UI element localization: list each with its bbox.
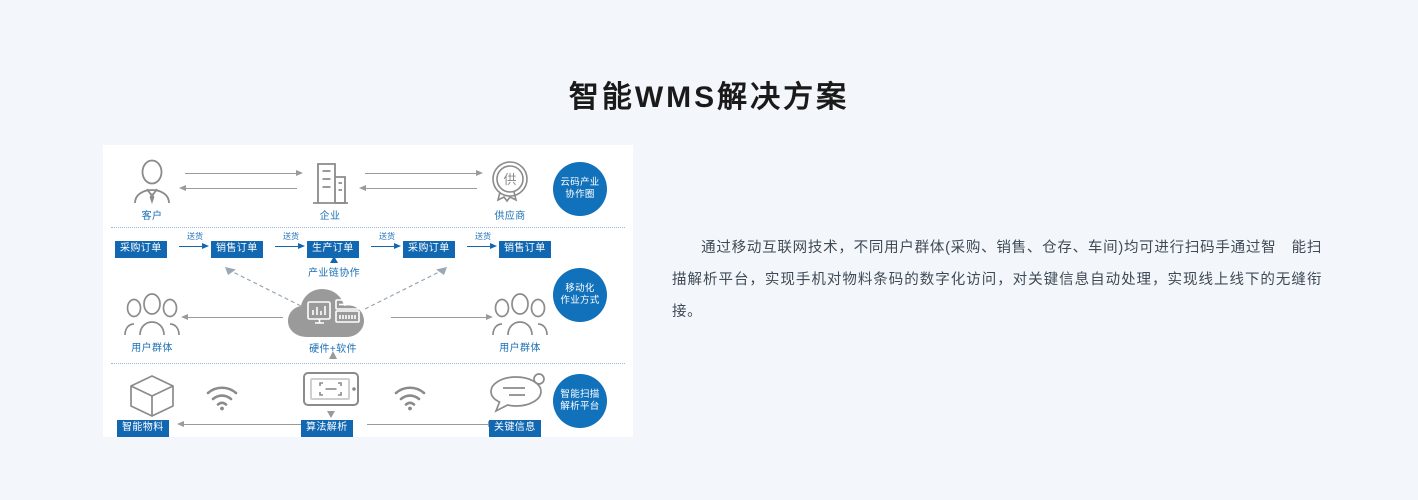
node-smart-material	[123, 373, 181, 417]
node-key-information	[485, 371, 547, 415]
arrow-cloud-to-user-left	[187, 317, 283, 318]
tag-label: 关键信息	[489, 420, 541, 437]
node-enterprise: 企业	[301, 159, 359, 222]
node-label-user-group-right: 用户群体	[491, 339, 549, 354]
badge-cloud-industry-circle: 云码产业 协作圈	[553, 162, 607, 216]
svg-text:供: 供	[503, 172, 516, 187]
badge-mobile-operation-circle: 移动化 作业方式	[553, 268, 607, 322]
tag-sales-order-1[interactable]: 销售订单	[211, 238, 263, 258]
arrow-delivery-3	[371, 246, 395, 247]
row-separator-1	[111, 227, 625, 228]
wms-architecture-diagram: 客户 企业	[103, 145, 633, 437]
node-cloud-platform: 硬件+软件	[281, 285, 385, 355]
wifi-icon	[393, 385, 427, 411]
description-paragraph: 通过移动互联网技术，不同用户群体(采购、销售、仓存、车间)均可进行扫码手通过智 …	[672, 232, 1322, 328]
arrow-scanner-to-material	[183, 424, 305, 425]
package-box-icon	[123, 373, 181, 417]
arrow-label-delivery-3: 送货	[373, 231, 401, 242]
speech-bubble-icon	[485, 371, 547, 415]
node-label-supplier: 供应商	[481, 207, 539, 222]
tag-sales-order-2[interactable]: 销售订单	[499, 238, 551, 258]
arrow-delivery-2	[275, 246, 299, 247]
badge-line-2: 协作圈	[565, 189, 594, 201]
wifi-icon	[205, 385, 239, 411]
tag-label: 采购订单	[403, 241, 455, 258]
enterprise-building-icon	[301, 159, 359, 205]
arrow-label-delivery-4: 送货	[469, 231, 497, 242]
tag-key-information[interactable]: 关键信息	[489, 417, 541, 437]
node-user-group-right: 用户群体	[491, 293, 549, 354]
arrow-cloud-to-user-right	[391, 317, 487, 318]
tag-algorithm-parse[interactable]: 算法解析	[301, 417, 353, 437]
badge-line-2: 作业方式	[560, 295, 599, 307]
arrow-enterprise-to-customer	[185, 188, 297, 189]
wifi-icon-left-wrap	[205, 385, 239, 411]
node-label-customer: 客户	[123, 207, 181, 222]
node-label-user-group-left: 用户群体	[123, 339, 181, 354]
badge-scan-platform-circle: 智能扫描 解析平台	[553, 374, 607, 428]
arrow-label-delivery-2: 送货	[277, 231, 305, 242]
scanner-tablet-icon	[299, 369, 363, 409]
badge-line-1: 移动化	[565, 283, 594, 295]
page-root: 智能WMS解决方案 客户	[0, 0, 1418, 500]
cloud-up-marker	[325, 351, 341, 360]
tag-smart-material[interactable]: 智能物料	[117, 417, 169, 437]
node-label-enterprise: 企业	[301, 207, 359, 222]
badge-line-1: 智能扫描	[560, 389, 599, 401]
node-algorithm-parse	[299, 369, 363, 419]
arrow-delivery-1	[179, 246, 203, 247]
tag-label: 销售订单	[499, 241, 551, 258]
arrow-label-delivery-1: 送货	[181, 231, 209, 242]
badge-line-1: 云码产业	[560, 177, 599, 189]
user-group-icon	[491, 293, 549, 337]
row-separator-2	[111, 363, 625, 364]
tag-purchase-order-2[interactable]: 采购订单	[403, 238, 455, 258]
arrow-customer-to-enterprise	[185, 173, 297, 174]
arrow-enterprise-to-supplier	[365, 173, 477, 174]
user-group-icon	[123, 293, 181, 337]
tag-label: 采购订单	[115, 241, 167, 258]
page-title: 智能WMS解决方案	[0, 72, 1418, 116]
badge-line-2: 解析平台	[560, 401, 599, 413]
arrow-parse-to-key-info	[367, 424, 489, 425]
supplier-seal-icon: 供	[481, 159, 539, 205]
description-text: 通过移动互联网技术，不同用户群体(采购、销售、仓存、车间)均可进行扫码手通过智 …	[672, 240, 1322, 320]
node-supplier: 供 供应商	[481, 159, 539, 222]
node-user-group-left: 用户群体	[123, 293, 181, 354]
cloud-icon	[281, 285, 385, 339]
tag-purchase-order-1[interactable]: 采购订单	[115, 238, 167, 258]
customer-person-icon	[123, 159, 181, 205]
tag-label: 销售订单	[211, 241, 263, 258]
node-customer: 客户	[123, 159, 181, 222]
tag-label: 算法解析	[301, 420, 353, 437]
tag-label: 智能物料	[117, 420, 169, 437]
arrow-delivery-4	[467, 246, 491, 247]
arrow-supplier-to-enterprise	[365, 188, 477, 189]
wifi-icon-right-wrap	[393, 385, 427, 411]
